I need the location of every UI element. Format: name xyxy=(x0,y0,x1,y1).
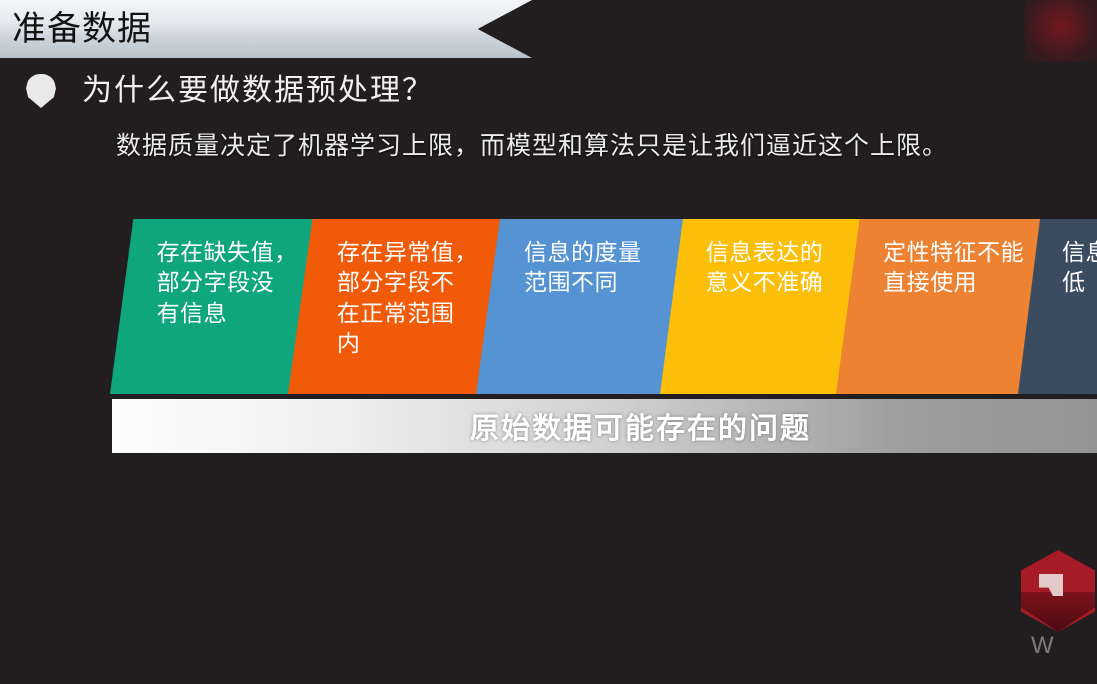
tile-label: 定性特征不能 直接使用 xyxy=(883,237,1037,298)
slide-canvas: 准备数据 为什么要做数据预处理？ 数据质量决定了机器学习上限，而模型和算法只是让… xyxy=(0,0,1097,684)
tile-label: 信息表达的 意义不准确 xyxy=(706,237,856,298)
watermark-letter: W xyxy=(1031,632,1055,660)
hexagon-logo-glyph xyxy=(1039,574,1063,596)
pin-bullet-icon xyxy=(26,74,56,108)
tile-outliers: 存在异常值， 部分字段不 在正常范围 内 xyxy=(288,219,510,394)
bullet-heading-row: 为什么要做数据预处理？ xyxy=(26,74,434,108)
body-sentence: 数据质量决定了机器学习上限，而模型和算法只是让我们逼近这个上限。 xyxy=(116,131,948,161)
problem-tiles-band: 存在缺失值， 部分字段没 有信息 存在异常值， 部分字段不 在正常范围 内 信息… xyxy=(110,219,1097,394)
slide-title-banner: 准备数据 xyxy=(0,0,532,58)
watermark: W xyxy=(1003,550,1097,660)
caption-text: 原始数据可能存在的问题 xyxy=(470,405,811,447)
tile-qualitative-features: 定性特征不能 直接使用 xyxy=(836,219,1050,394)
page-title: 准备数据 xyxy=(0,12,152,46)
tile-label: 信息的度量 范围不同 xyxy=(524,237,681,298)
bullet-heading-text: 为什么要做数据预处理？ xyxy=(82,76,434,106)
tile-missing-values: 存在缺失值， 部分字段没 有信息 xyxy=(110,219,322,394)
corner-glow-top-right xyxy=(1025,0,1097,62)
tile-scale-range: 信息的度量 范围不同 xyxy=(476,219,694,394)
tile-label: 信息 低 xyxy=(1062,237,1097,298)
caption-bar: 原始数据可能存在的问题 xyxy=(112,399,1097,453)
hexagon-logo-icon xyxy=(1021,550,1095,632)
hexagon-logo-shadow xyxy=(1021,592,1095,632)
tile-meaning-inaccurate: 信息表达的 意义不准确 xyxy=(660,219,868,394)
tile-label: 存在缺失值， 部分字段没 有信息 xyxy=(157,237,310,328)
tile-label: 存在异常值， 部分字段不 在正常范围 内 xyxy=(337,237,497,358)
